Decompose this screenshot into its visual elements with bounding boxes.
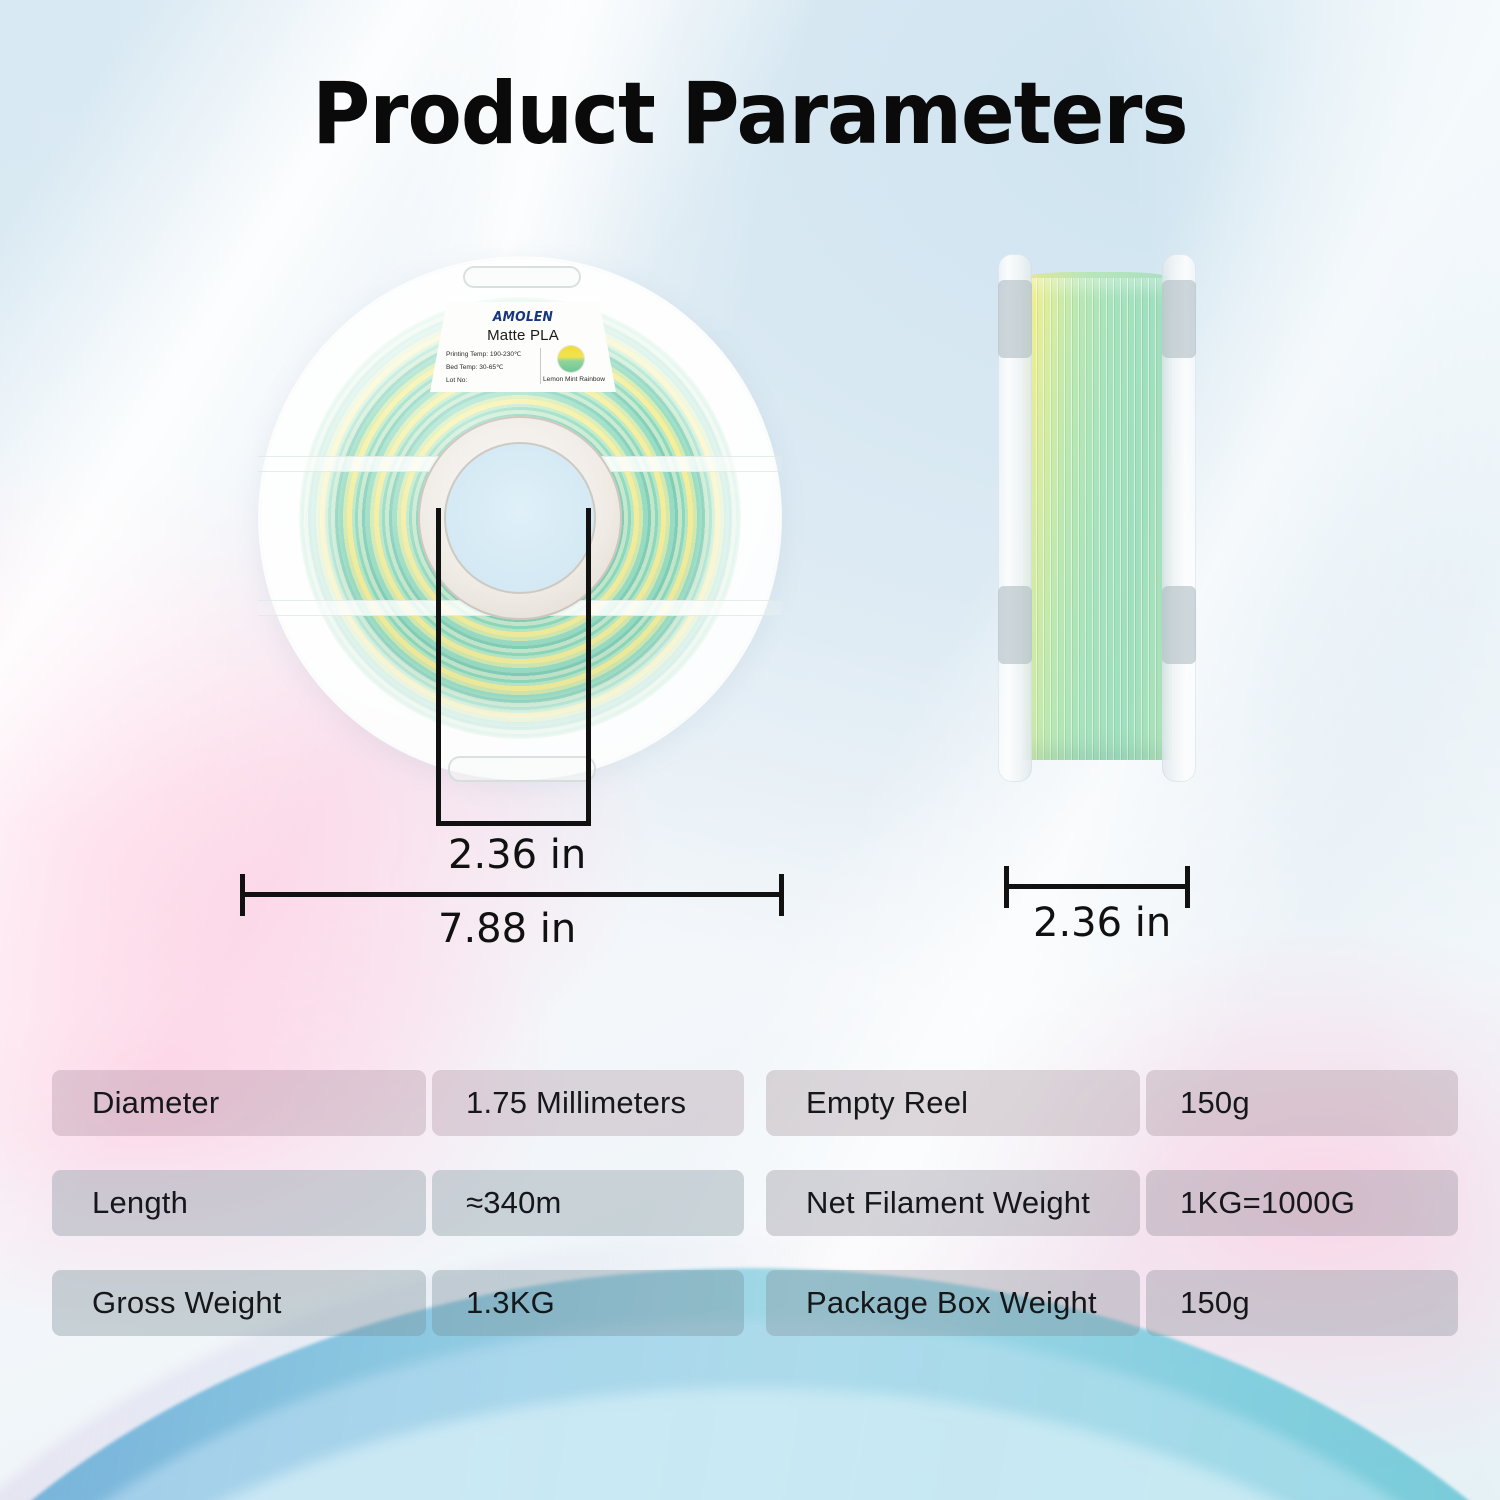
product-type-label: Matte PLA (430, 327, 616, 344)
spec-cell-pair: Gross Weight 1.3KG (52, 1270, 744, 1336)
spool-dimension-text: 7.88 in (438, 906, 576, 952)
spec-cell-pair: Length ≈340m (52, 1170, 744, 1236)
hub-dim-leg-right (586, 508, 591, 826)
spec-value-cell: 1.75 Millimeters (432, 1070, 744, 1136)
spool-side-filament-body (1022, 278, 1172, 760)
spool-side-notch (998, 280, 1032, 358)
table-row: Diameter 1.75 Millimeters Empty Reel 150… (52, 1070, 1448, 1136)
spec-value-cell: 150g (1146, 1070, 1458, 1136)
label-printing-temp: Printing Temp: 190-230℃ (446, 348, 534, 361)
table-row: Length ≈340m Net Filament Weight 1KG=100… (52, 1170, 1448, 1236)
spec-value-cell: ≈340m (432, 1170, 744, 1236)
hub-dim-leg-left (436, 508, 441, 826)
width-dim-baseline (1004, 884, 1190, 889)
page-title: Product Parameters (60, 64, 1440, 164)
spec-cell-pair: Diameter 1.75 Millimeters (52, 1070, 744, 1136)
spool-handle-slot-bottom (448, 756, 596, 782)
spec-label-text: Net Filament Weight (806, 1185, 1090, 1221)
brand-logo-text: AMOLEN (435, 310, 612, 325)
filament-spool-side-view (998, 254, 1196, 782)
spec-cell-pair: Package Box Weight 150g (766, 1270, 1458, 1336)
spec-value-cell: 1KG=1000G (1146, 1170, 1458, 1236)
width-dimension-text: 2.36 in (1033, 900, 1171, 946)
filament-spool-front-view: AMOLEN Matte PLA Printing Temp: 190-230℃… (258, 256, 782, 780)
spec-value-text: 150g (1180, 1285, 1250, 1321)
spec-value-text: 1KG=1000G (1180, 1185, 1355, 1221)
spec-value-cell: 1.3KG (432, 1270, 744, 1336)
hub-dimension-text: 2.36 in (448, 832, 586, 878)
spec-label-text: Diameter (92, 1085, 219, 1121)
hub-dim-baseline (436, 821, 591, 826)
spool-side-notch (998, 586, 1032, 664)
spool-product-label: AMOLEN Matte PLA Printing Temp: 190-230℃… (430, 302, 616, 392)
spec-value-text: 1.3KG (466, 1285, 555, 1321)
spec-label-cell: Diameter (52, 1070, 426, 1136)
spec-value-cell: 150g (1146, 1270, 1458, 1336)
label-lot-no: Lot No: (446, 374, 534, 387)
spool-side-notch (1162, 586, 1196, 664)
spec-label-text: Gross Weight (92, 1285, 282, 1321)
spec-label-text: Length (92, 1185, 188, 1221)
spec-value-text: ≈340m (466, 1185, 562, 1221)
label-bed-temp: Bed Temp: 30-65℃ (446, 361, 534, 374)
spec-label-cell: Gross Weight (52, 1270, 426, 1336)
spool-handle-slot-top (463, 266, 581, 288)
spec-label-cell: Length (52, 1170, 426, 1236)
spool-dim-baseline (240, 892, 784, 897)
spec-label-cell: Empty Reel (766, 1070, 1140, 1136)
spec-cell-pair: Empty Reel 150g (766, 1070, 1458, 1136)
label-spec-list: Printing Temp: 190-230℃ Bed Temp: 30-65℃… (446, 348, 534, 387)
table-row: Gross Weight 1.3KG Package Box Weight 15… (52, 1270, 1448, 1336)
color-name-label: Lemon Mint Rainbow (534, 376, 614, 383)
spec-cell-pair: Net Filament Weight 1KG=1000G (766, 1170, 1458, 1236)
spec-label-cell: Net Filament Weight (766, 1170, 1140, 1236)
color-swatch-icon (558, 346, 584, 372)
specifications-table: Diameter 1.75 Millimeters Empty Reel 150… (52, 1070, 1448, 1370)
spec-label-text: Empty Reel (806, 1085, 968, 1121)
spec-value-text: 1.75 Millimeters (466, 1085, 686, 1121)
spool-hub-bore (444, 442, 596, 594)
spool-side-notch (1162, 280, 1196, 358)
spec-value-text: 150g (1180, 1085, 1250, 1121)
spec-label-text: Package Box Weight (806, 1285, 1097, 1321)
spec-label-cell: Package Box Weight (766, 1270, 1140, 1336)
infographic-canvas: Product Parameters AMOLEN Matte PLA Prin… (0, 0, 1500, 1500)
